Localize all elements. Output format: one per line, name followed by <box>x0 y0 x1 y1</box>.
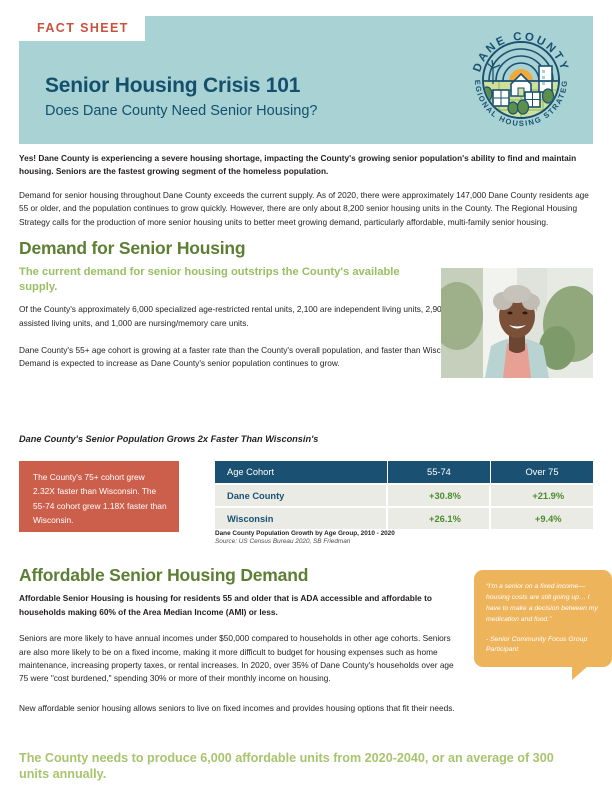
section-heading-demand: Demand for Senior Housing <box>19 239 593 258</box>
wisconsin-55-74-value: +26.1% <box>387 507 490 529</box>
senior-woman-photo <box>441 268 593 378</box>
wisconsin-over-75-value: +9.4% <box>490 507 593 529</box>
table-header-row: Age Cohort 55-74 Over 75 <box>215 461 593 484</box>
figure-title-wrap: Dane County's Senior Population Grows 2x… <box>19 434 593 444</box>
senior-quote-callout: “I'm a senior on a fixed income—housing … <box>474 570 612 667</box>
table-row: Dane County +30.8% +21.9% <box>215 484 593 507</box>
fact-sheet-page: FACT SHEET Senior Housing Crisis 101 Doe… <box>0 0 612 792</box>
population-growth-table: Age Cohort 55-74 Over 75 Dane County +30… <box>215 461 593 529</box>
affordable-paragraph-3: New affordable senior housing allows sen… <box>19 702 593 715</box>
intro-paragraph-2: Demand for senior housing throughout Dan… <box>19 189 593 229</box>
closing-statement: The County needs to produce 6,000 afford… <box>19 750 579 783</box>
row-label-wisconsin: Wisconsin <box>215 507 387 529</box>
header-banner: FACT SHEET Senior Housing Crisis 101 Doe… <box>19 16 593 144</box>
col-header-over-75: Over 75 <box>490 461 593 484</box>
stat-callout-box: The County's 75+ cohort grew 2.32X faste… <box>19 461 179 532</box>
figure-title: Dane County's Senior Population Grows 2x… <box>19 434 593 444</box>
row-label-dane-county: Dane County <box>215 484 387 507</box>
col-header-age-cohort: Age Cohort <box>215 461 387 484</box>
affordable-paragraph-1: Affordable Senior Housing is housing for… <box>19 592 464 619</box>
page-subtitle: Does Dane County Need Senior Housing? <box>45 103 445 120</box>
intro-paragraph-1: Yes! Dane County is experiencing a sever… <box>19 152 593 179</box>
header-title-group: Senior Housing Crisis 101 Does Dane Coun… <box>45 74 445 121</box>
table-source: Source: US Census Bureau 2020, SB Friedm… <box>215 537 350 546</box>
demand-paragraph-1: Of the County's approximately 6,000 spec… <box>19 303 464 330</box>
quote-attribution: - Senior Community Focus Group Participa… <box>486 635 600 655</box>
section-subheading-demand: The current demand for senior housing ou… <box>19 265 419 294</box>
quote-tail-icon <box>572 666 588 680</box>
growth-figure: The County's 75+ cohort grew 2.32X faste… <box>19 461 593 556</box>
fact-sheet-badge: FACT SHEET <box>19 16 145 41</box>
affordable-paragraph-2: Seniors are more likely to have annual i… <box>19 632 464 686</box>
table-row: Wisconsin +26.1% +9.4% <box>215 507 593 529</box>
dane-county-logo-icon: DANE COUNTY REGIONAL HOUSING STRATEGY <box>463 22 579 138</box>
quote-text: “I'm a senior on a fixed income—housing … <box>486 581 600 625</box>
page-title: Senior Housing Crisis 101 <box>45 74 445 98</box>
dane-county-over-75-value: +21.9% <box>490 484 593 507</box>
col-header-55-74: 55-74 <box>387 461 490 484</box>
dane-county-55-74-value: +30.8% <box>387 484 490 507</box>
